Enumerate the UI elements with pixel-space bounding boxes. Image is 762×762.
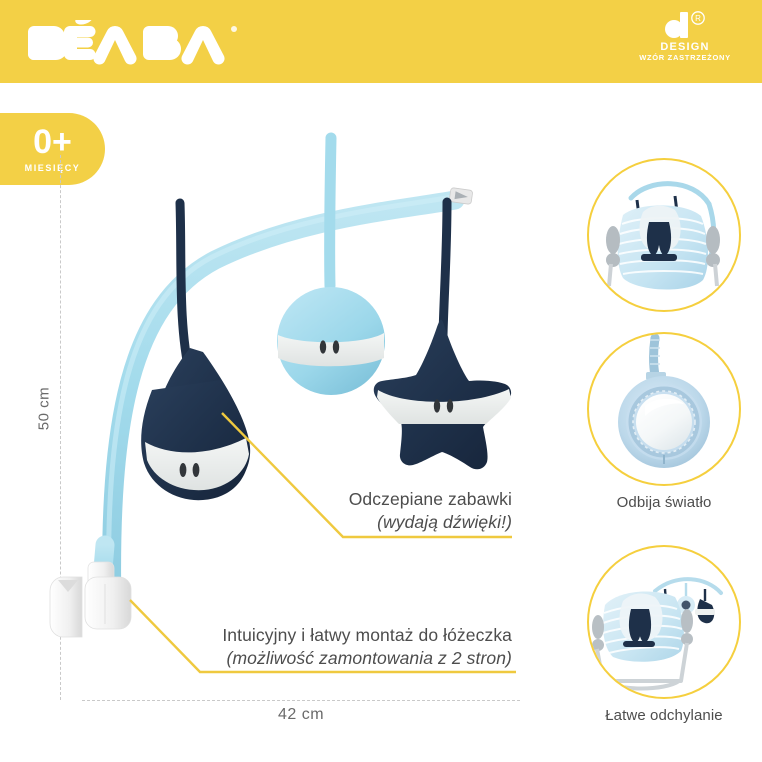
feature-easy-recline: Łatwe odchylanie [573, 545, 755, 724]
round-mirror-toy-icon [589, 334, 739, 484]
design-d-mark-icon: R [626, 10, 744, 40]
svg-text:R: R [695, 14, 701, 23]
product-photo-toy-arch [0, 90, 545, 710]
feature-recline-ring [587, 545, 741, 699]
header-bar: R DESIGN WZÓR ZASTRZEŻONY [0, 0, 762, 83]
callout-mount-line1: Intuicyjny i łatwy montaż do łóżeczka [150, 624, 512, 647]
feature-mirror-caption: Odbija światło [573, 494, 755, 511]
product-infographic: R DESIGN WZÓR ZASTRZEŻONY 0+ MIESIĘCY 50… [0, 0, 762, 762]
design-badge-line2: WZÓR ZASTRZEŻONY [626, 53, 744, 63]
callout-toys-line1: Odczepiane zabawki [220, 488, 512, 511]
star-plush-toy [374, 202, 511, 469]
design-registered-badge: R DESIGN WZÓR ZASTRZEŻONY [626, 10, 744, 76]
callout-detachable-toys: Odczepiane zabawki (wydają dźwięki!) [220, 488, 512, 534]
beaba-logo [28, 20, 258, 66]
ball-plush-toy [277, 138, 385, 395]
feature-recline-caption: Łatwe odchylanie [573, 707, 755, 724]
baby-bouncer-seat-icon [589, 160, 739, 310]
feature-bouncer-ring [587, 158, 741, 312]
feature-bouncer-seat [573, 158, 755, 320]
design-badge-line1: DESIGN [626, 41, 744, 53]
callout-easy-mounting: Intuicyjny i łatwy montaż do łóżeczka (m… [150, 624, 512, 670]
feature-mirror-ring [587, 332, 741, 486]
reclining-bouncer-icon [589, 547, 739, 697]
feature-reflects-light: Odbija światło [573, 332, 755, 511]
callout-mount-line2: (możliwość zamontowania z 2 stron) [150, 647, 512, 670]
callout-toys-line2: (wydają dźwięki!) [220, 511, 512, 534]
